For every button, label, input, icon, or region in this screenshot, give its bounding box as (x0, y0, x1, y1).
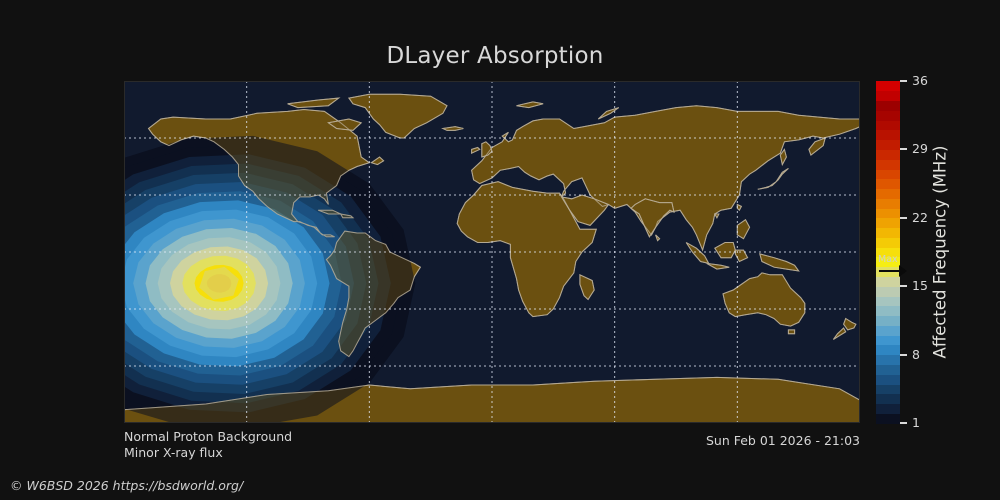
colorbar-band (876, 110, 900, 120)
colorbar-tick-label: 8 (912, 347, 920, 362)
colorbar-band (876, 316, 900, 326)
landmass-tasmania (788, 330, 794, 334)
colorbar-band (876, 413, 900, 423)
status-notes: Normal Proton Background Minor X-ray flu… (124, 429, 292, 461)
colorbar-band (876, 267, 900, 277)
colorbar-band (876, 208, 900, 218)
colorbar-band (876, 101, 900, 111)
colorbar-tick-mark (900, 285, 907, 287)
proton-background-note: Normal Proton Background (124, 429, 292, 445)
colorbar-band (876, 140, 900, 150)
colorbar-band (876, 257, 900, 267)
colorbar-tick-mark (900, 354, 907, 356)
colorbar-band (876, 276, 900, 286)
colorbar-band (876, 159, 900, 169)
colorbar-band (876, 188, 900, 198)
colorbar-band (876, 149, 900, 159)
colorbar-tick-label: 1 (912, 415, 920, 430)
colorbar-band (876, 394, 900, 404)
colorbar-band (876, 218, 900, 228)
colorbar-band (876, 81, 900, 91)
colorbar-band (876, 403, 900, 413)
colorbar-band (876, 198, 900, 208)
timestamp: Sun Feb 01 2026 - 21:03 (560, 433, 860, 448)
colorbar-band (876, 247, 900, 257)
colorbar-axis-label: Affected Frequency (MHz) (925, 81, 955, 423)
colorbar-band (876, 228, 900, 238)
colorbar-band (876, 169, 900, 179)
page-title: DLayer Absorption (0, 43, 990, 69)
colorbar-band (876, 120, 900, 130)
colorbar-band (876, 237, 900, 247)
colorbar-band (876, 306, 900, 316)
absorption-map[interactable] (124, 81, 860, 423)
colorbar-band (876, 91, 900, 101)
map-canvas (124, 81, 860, 423)
colorbar-band (876, 384, 900, 394)
colorbar-band (876, 335, 900, 345)
colorbar-band (876, 179, 900, 189)
colorbar-band (876, 345, 900, 355)
colorbar-band (876, 130, 900, 140)
colorbar-tick-mark (900, 148, 907, 150)
colorbar-tick-mark (900, 217, 907, 219)
colorbar-band (876, 374, 900, 384)
xray-flux-note: Minor X-ray flux (124, 445, 292, 461)
colorbar[interactable] (876, 81, 900, 423)
copyright-notice: © W6BSD 2026 https://bsdworld.org/ (10, 478, 243, 493)
colorbar-band (876, 325, 900, 335)
colorbar-tick-mark (900, 422, 907, 424)
colorbar-band (876, 355, 900, 365)
colorbar-axis-label-text: Affected Frequency (MHz) (931, 146, 950, 359)
colorbar-band (876, 286, 900, 296)
colorbar-band (876, 364, 900, 374)
colorbar-band (876, 296, 900, 306)
colorbar-tick-mark (900, 80, 907, 82)
